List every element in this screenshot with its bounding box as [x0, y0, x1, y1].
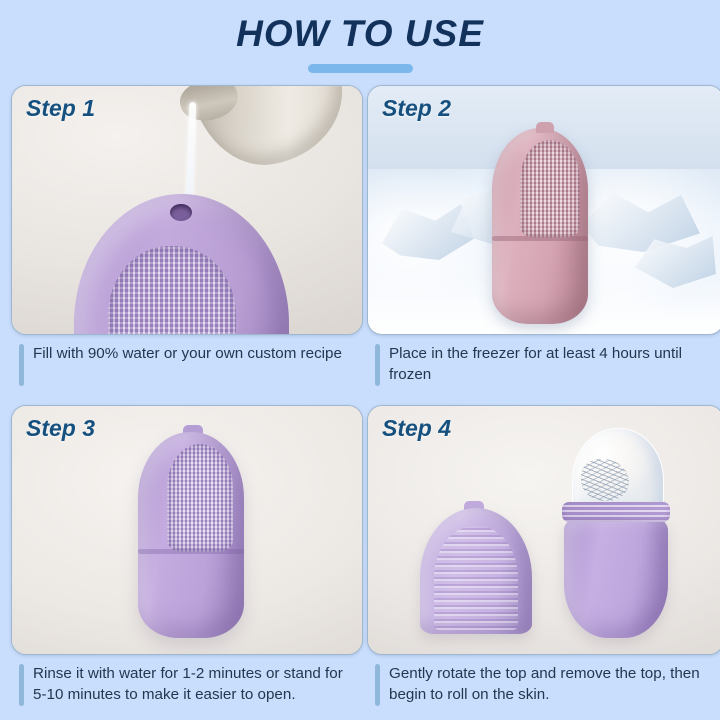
caption-accent-bar — [375, 344, 380, 386]
step-1-caption: Fill with 90% water or your own custom r… — [11, 344, 361, 386]
bristle-texture — [167, 444, 233, 552]
caption-accent-bar — [375, 664, 380, 706]
page-title: HOW TO USE — [0, 14, 720, 55]
step-3-label: Step 3 — [26, 415, 95, 442]
caption-accent-bar — [19, 344, 24, 386]
wave-texture — [434, 526, 518, 630]
step-3-photo: Step 3 — [11, 405, 363, 655]
step-4-caption-text: Gently rotate the top and remove the top… — [389, 664, 709, 705]
fill-hole-icon — [170, 204, 192, 221]
bristle-texture — [520, 140, 580, 238]
device-base — [564, 514, 668, 638]
step-1-label: Step 1 — [26, 95, 95, 122]
step-2-caption-text: Place in the freezer for at least 4 hour… — [389, 344, 709, 385]
page-header: HOW TO USE — [0, 0, 720, 73]
step-3-caption: Rinse it with water for 1-2 minutes or s… — [11, 664, 361, 706]
step-2-caption: Place in the freezer for at least 4 hour… — [367, 344, 720, 386]
cap-nub-icon — [536, 122, 554, 133]
step-1-photo: Step 1 — [11, 85, 363, 335]
step-1-caption-text: Fill with 90% water or your own custom r… — [33, 344, 342, 365]
step-card-2: Step 2 Place in the freezer for at least… — [367, 85, 720, 395]
step-card-1: Step 1 Fill with 90% water or your own c… — [11, 85, 361, 395]
steps-grid: Step 1 Fill with 90% water or your own c… — [0, 85, 720, 720]
step-2-photo: Step 2 — [367, 85, 720, 335]
step-card-3: Step 3 Rinse it with water for 1-2 minut… — [11, 405, 361, 715]
title-underline-bar — [308, 64, 413, 73]
caption-accent-bar — [19, 664, 24, 706]
step-4-label: Step 4 — [382, 415, 451, 442]
step-4-photo: Step 4 — [367, 405, 720, 655]
step-card-4: Step 4 Gently rotate the top and remove … — [367, 405, 720, 715]
device-seam — [492, 236, 588, 241]
step-4-caption: Gently rotate the top and remove the top… — [367, 664, 720, 706]
step-2-label: Step 2 — [382, 95, 451, 122]
threaded-collar — [562, 502, 670, 522]
frost-texture — [581, 459, 629, 501]
device-seam — [138, 549, 244, 554]
step-3-caption-text: Rinse it with water for 1-2 minutes or s… — [33, 664, 353, 705]
